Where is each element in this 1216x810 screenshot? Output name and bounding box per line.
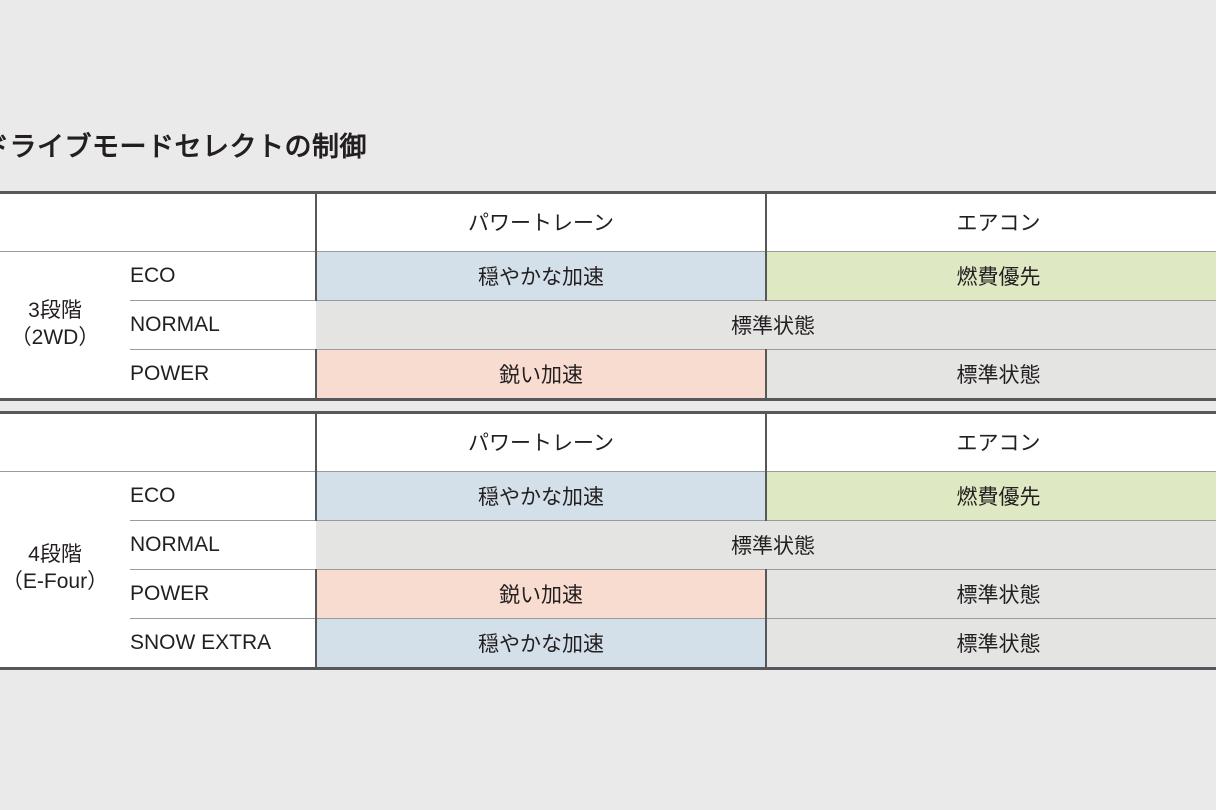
- mode-table-2: パワートレーンエアコン4段階（E-Four）ECO穏やかな加速燃費優先NORMA…: [0, 414, 1216, 667]
- table-row: POWER鋭い加速標準状態: [0, 349, 1216, 398]
- merged-value-cell: 標準状態: [316, 300, 1216, 349]
- mode-name-cell: NORMAL: [130, 300, 316, 349]
- powertrain-value-cell: 鋭い加速: [316, 569, 766, 618]
- table-header-row: パワートレーンエアコン: [0, 194, 1216, 251]
- powertrain-value-cell: 穏やかな加速: [316, 471, 766, 520]
- header-corner-cell: [0, 414, 316, 471]
- aircon-value-cell: 燃費優先: [766, 471, 1216, 520]
- mode-name-cell: ECO: [130, 251, 316, 300]
- mode-name-cell: SNOW EXTRA: [130, 618, 316, 667]
- table-row: POWER鋭い加速標準状態: [0, 569, 1216, 618]
- mode-name-cell: NORMAL: [130, 520, 316, 569]
- group-label-cell: 3段階（2WD）: [0, 251, 130, 398]
- mode-table-1: パワートレーンエアコン3段階（2WD）ECO穏やかな加速燃費優先NORMAL標準…: [0, 194, 1216, 398]
- mode-name-cell: ECO: [130, 471, 316, 520]
- page-title: ドライブモードセレクトの制御: [0, 133, 682, 163]
- table-4step-block: パワートレーンエアコン4段階（E-Four）ECO穏やかな加速燃費優先NORMA…: [0, 411, 1216, 670]
- table-row: 4段階（E-Four）ECO穏やかな加速燃費優先: [0, 471, 1216, 520]
- aircon-value-cell: 燃費優先: [766, 251, 1216, 300]
- merged-value-cell: 標準状態: [316, 520, 1216, 569]
- table-3step-block: パワートレーンエアコン3段階（2WD）ECO穏やかな加速燃費優先NORMAL標準…: [0, 191, 1216, 401]
- mode-name-cell: POWER: [130, 349, 316, 398]
- powertrain-value-cell: 穏やかな加速: [316, 251, 766, 300]
- aircon-value-cell: 標準状態: [766, 618, 1216, 667]
- group-label-line1: 3段階: [0, 298, 130, 325]
- powertrain-value-cell: 穏やかな加速: [316, 618, 766, 667]
- column-header-powertrain: パワートレーン: [316, 194, 766, 251]
- column-header-powertrain: パワートレーン: [316, 414, 766, 471]
- table-header-row: パワートレーンエアコン: [0, 414, 1216, 471]
- table-row: 3段階（2WD）ECO穏やかな加速燃費優先: [0, 251, 1216, 300]
- group-label-line1: 4段階: [0, 542, 130, 569]
- group-label-line2: （E-Four）: [0, 569, 130, 596]
- aircon-value-cell: 標準状態: [766, 569, 1216, 618]
- header-corner-cell: [0, 194, 316, 251]
- aircon-value-cell: 標準状態: [766, 349, 1216, 398]
- column-header-aircon: エアコン: [766, 414, 1216, 471]
- group-label-cell: 4段階（E-Four）: [0, 471, 130, 667]
- table-row: SNOW EXTRA穏やかな加速標準状態: [0, 618, 1216, 667]
- mode-name-cell: POWER: [130, 569, 316, 618]
- column-header-aircon: エアコン: [766, 194, 1216, 251]
- group-label-line2: （2WD）: [0, 325, 130, 352]
- powertrain-value-cell: 鋭い加速: [316, 349, 766, 398]
- table-row: NORMAL標準状態: [0, 300, 1216, 349]
- table-row: NORMAL標準状態: [0, 520, 1216, 569]
